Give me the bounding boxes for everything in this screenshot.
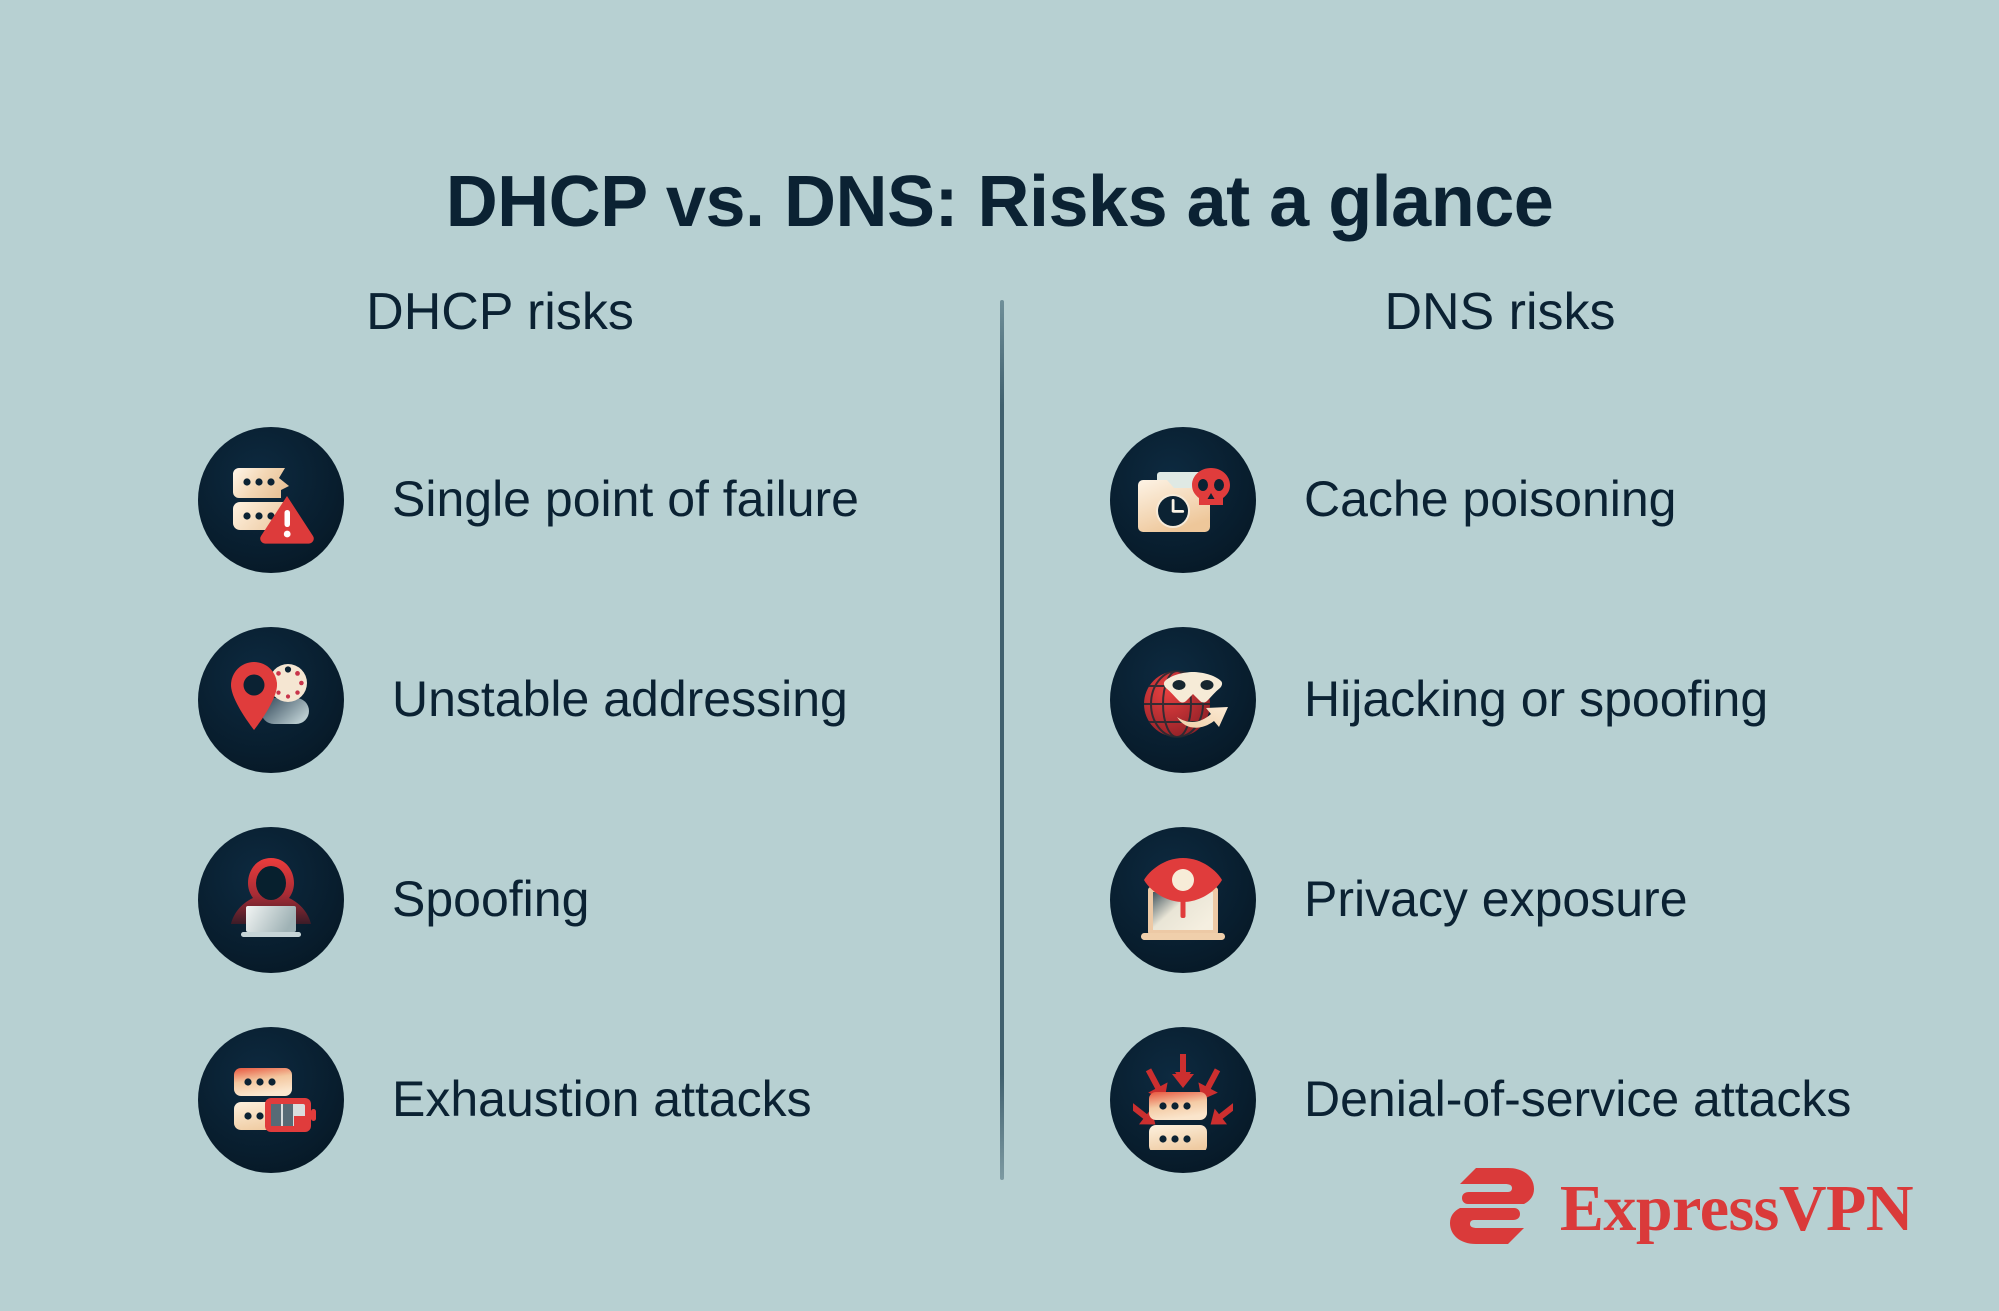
risk-label: Spoofing: [392, 871, 589, 929]
list-item: Single point of failure: [10, 400, 990, 600]
list-item: Unstable addressing: [10, 600, 990, 800]
column-header-dhcp: DHCP risks: [10, 282, 990, 338]
globe-mask-arrow-icon: [1110, 627, 1256, 773]
comparison-columns: DHCP risks: [0, 282, 1999, 1182]
risk-label: Cache poisoning: [1304, 471, 1677, 529]
risk-label: Hijacking or spoofing: [1304, 671, 1768, 729]
column-dhcp: DHCP risks: [10, 282, 990, 338]
expressvpn-e-mark-icon: [1446, 1166, 1538, 1251]
risk-label: Exhaustion attacks: [392, 1071, 812, 1129]
column-header-dns: DNS risks: [1010, 282, 1990, 338]
server-battery-drain-icon: [198, 1027, 344, 1173]
risk-label: Privacy exposure: [1304, 871, 1688, 929]
risk-list-dhcp: Single point of failure: [10, 400, 990, 1200]
list-item: Exhaustion attacks: [10, 1000, 990, 1200]
expressvpn-wordmark: ExpressVPN: [1560, 1176, 1913, 1242]
expressvpn-logo: ExpressVPN: [1446, 1166, 1913, 1251]
location-pin-loading-icon: [198, 627, 344, 773]
risk-list-dns: Cache poisoning: [1010, 400, 1990, 1200]
risk-label: Unstable addressing: [392, 671, 848, 729]
column-divider: [1000, 300, 1004, 1180]
column-dns: DNS risks: [1010, 282, 1990, 338]
risk-label: Denial-of-service attacks: [1304, 1071, 1851, 1129]
hooded-hacker-laptop-icon: [198, 827, 344, 973]
server-arrows-attack-icon: [1110, 1027, 1256, 1173]
laptop-eye-icon: [1110, 827, 1256, 973]
list-item: Privacy exposure: [1010, 800, 1990, 1000]
list-item: Spoofing: [10, 800, 990, 1000]
list-item: Hijacking or spoofing: [1010, 600, 1990, 800]
risk-label: Single point of failure: [392, 471, 859, 529]
page-title: DHCP vs. DNS: Risks at a glance: [0, 163, 1999, 242]
broken-server-warning-icon: [198, 427, 344, 573]
list-item: Cache poisoning: [1010, 400, 1990, 600]
folder-clock-skull-icon: [1110, 427, 1256, 573]
infographic-root: DHCP vs. DNS: Risks at a glance DHCP ris…: [0, 0, 1999, 1311]
